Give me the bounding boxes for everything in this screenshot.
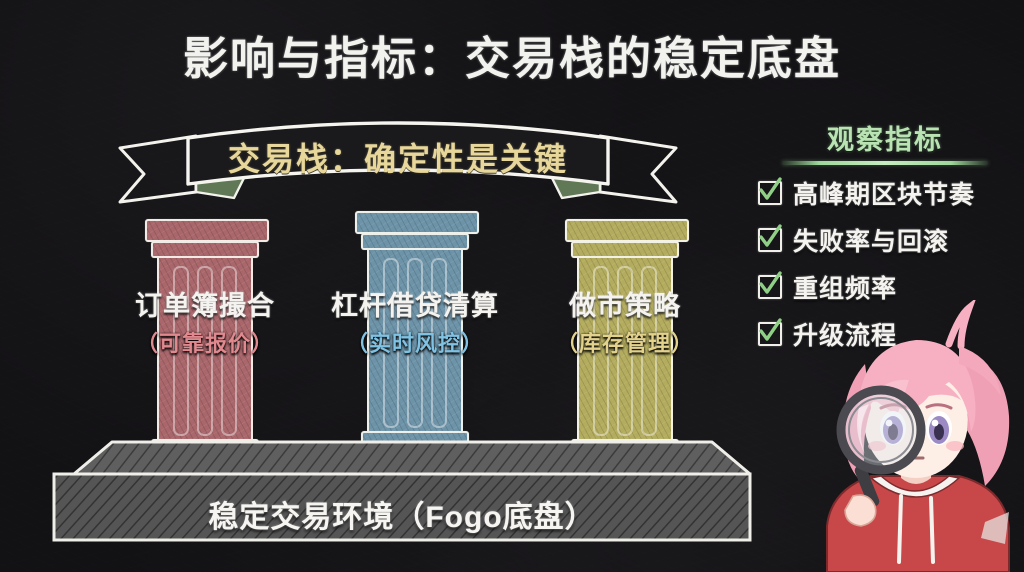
foundation-slab: 稳定交易环境（Fogo底盘） (52, 440, 752, 545)
checkbox-checked-icon[interactable] (758, 322, 782, 346)
pillar-capital (355, 211, 479, 234)
checklist-underline (782, 161, 988, 165)
foundation-label: 稳定交易环境（Fogo底盘） (52, 492, 752, 536)
checklist-item-label: 高峰期区块节奏 (793, 175, 975, 211)
anime-girl-with-magnifier-icon (809, 300, 1024, 572)
checklist-item-label: 失败率与回滚 (793, 222, 949, 258)
pillar-label-leverage: 杠杆借贷清算 （实时风控） (300, 284, 530, 358)
pillar-label-title: 杠杆借贷清算 (300, 284, 530, 323)
pillar-label-title: 做市策略 (510, 284, 740, 323)
banner-ribbon: 交易栈：确定性是关键 (108, 112, 688, 204)
pillar-label-subtitle: （库存管理） (510, 326, 740, 358)
pillar-label-order-book: 订单簿撮合 （可靠报价） (90, 284, 320, 358)
pillar-label-title: 订单簿撮合 (90, 284, 320, 323)
checkbox-checked-icon[interactable] (758, 228, 782, 252)
pillar-capital (145, 219, 269, 242)
slide-canvas: 影响与指标：交易栈的稳定底盘 交易栈：确定性是关键 (0, 0, 1024, 572)
pillar-label-subtitle: （可靠报价） (90, 326, 320, 358)
checkbox-checked-icon[interactable] (758, 275, 782, 299)
pillar-capital-band (151, 241, 259, 258)
checklist-item[interactable]: 失败率与回滚 (758, 222, 1014, 258)
page-title: 影响与指标：交易栈的稳定底盘 (0, 22, 1024, 87)
checkbox-checked-icon[interactable] (758, 181, 782, 205)
pillar-label-market-making: 做市策略 （库存管理） (510, 284, 740, 358)
checklist-item[interactable]: 高峰期区块节奏 (758, 175, 1014, 211)
pillar-label-subtitle: （实时风控） (300, 326, 530, 358)
checklist-title: 观察指标 (756, 118, 1014, 157)
pillar-capital (565, 219, 689, 242)
pillar-capital-band (361, 233, 469, 250)
mascot-character (809, 300, 1024, 572)
banner-text: 交易栈：确定性是关键 (108, 134, 688, 180)
pillar-capital-band (571, 241, 679, 258)
